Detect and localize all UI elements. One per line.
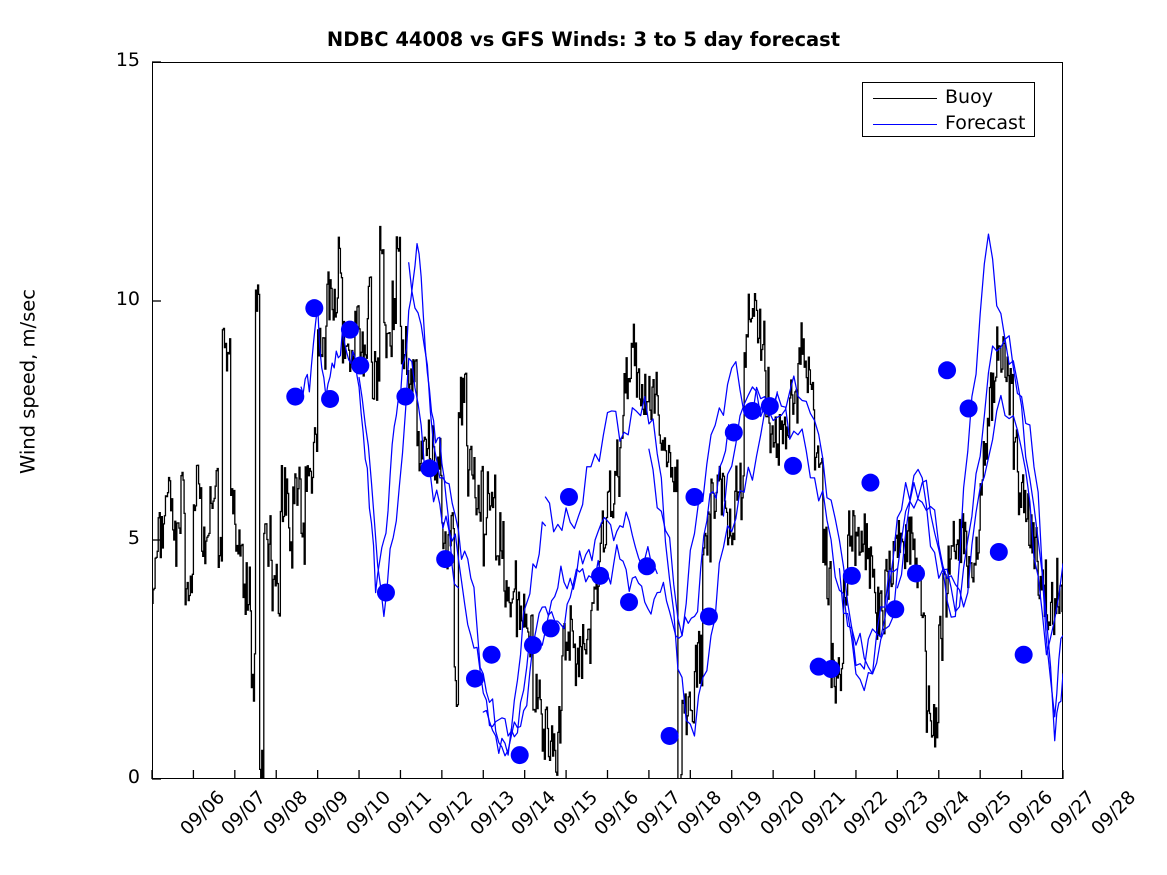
y-axis-title: Wind speed, m/sec — [17, 122, 40, 642]
x-tick-label: 09/14 — [508, 787, 561, 840]
x-tick-label: 09/10 — [342, 787, 395, 840]
x-tick-label: 09/28 — [1088, 787, 1141, 840]
legend-label: Forecast — [945, 110, 1025, 137]
x-tick-label: 09/17 — [632, 787, 685, 840]
x-tick-label: 09/22 — [839, 787, 892, 840]
legend-entry-forecast[interactable]: Forecast — [863, 111, 1036, 138]
x-tick-label: 09/12 — [425, 787, 478, 840]
x-tick-label: 09/19 — [715, 787, 768, 840]
x-tick-label: 09/16 — [591, 787, 644, 840]
x-tick-label: 09/21 — [798, 787, 851, 840]
legend-label: Buoy — [945, 84, 993, 111]
legend-entry-buoy[interactable]: Buoy — [863, 85, 1036, 112]
plot-area[interactable] — [152, 62, 1063, 779]
y-tick-label: 5 — [94, 527, 140, 549]
x-tick-label: 09/07 — [218, 787, 271, 840]
x-tick-label: 09/09 — [301, 787, 354, 840]
legend[interactable]: BuoyForecast — [862, 82, 1035, 137]
x-tick-label: 09/23 — [881, 787, 934, 840]
y-tick-label: 15 — [94, 49, 140, 71]
x-tick-label: 09/20 — [756, 787, 809, 840]
x-tick-label: 09/24 — [922, 787, 975, 840]
x-tick-label: 09/25 — [963, 787, 1016, 840]
chart-title: NDBC 44008 vs GFS Winds: 3 to 5 day fore… — [0, 28, 1167, 51]
legend-swatch-buoy — [873, 98, 937, 99]
y-tick-label: 0 — [94, 766, 140, 788]
x-tick-label: 09/27 — [1046, 787, 1099, 840]
x-tick-label: 09/18 — [674, 787, 727, 840]
x-tick-label: 09/26 — [1005, 787, 1058, 840]
x-tick-label: 09/11 — [384, 787, 437, 840]
y-tick-label: 10 — [94, 288, 140, 310]
x-tick-label: 09/08 — [259, 787, 312, 840]
x-tick-label: 09/15 — [549, 787, 602, 840]
figure-container: NDBC 44008 vs GFS Winds: 3 to 5 day fore… — [0, 0, 1167, 875]
x-tick-label: 09/13 — [466, 787, 519, 840]
x-tick-label: 09/06 — [177, 787, 230, 840]
legend-swatch-forecast — [873, 124, 937, 125]
